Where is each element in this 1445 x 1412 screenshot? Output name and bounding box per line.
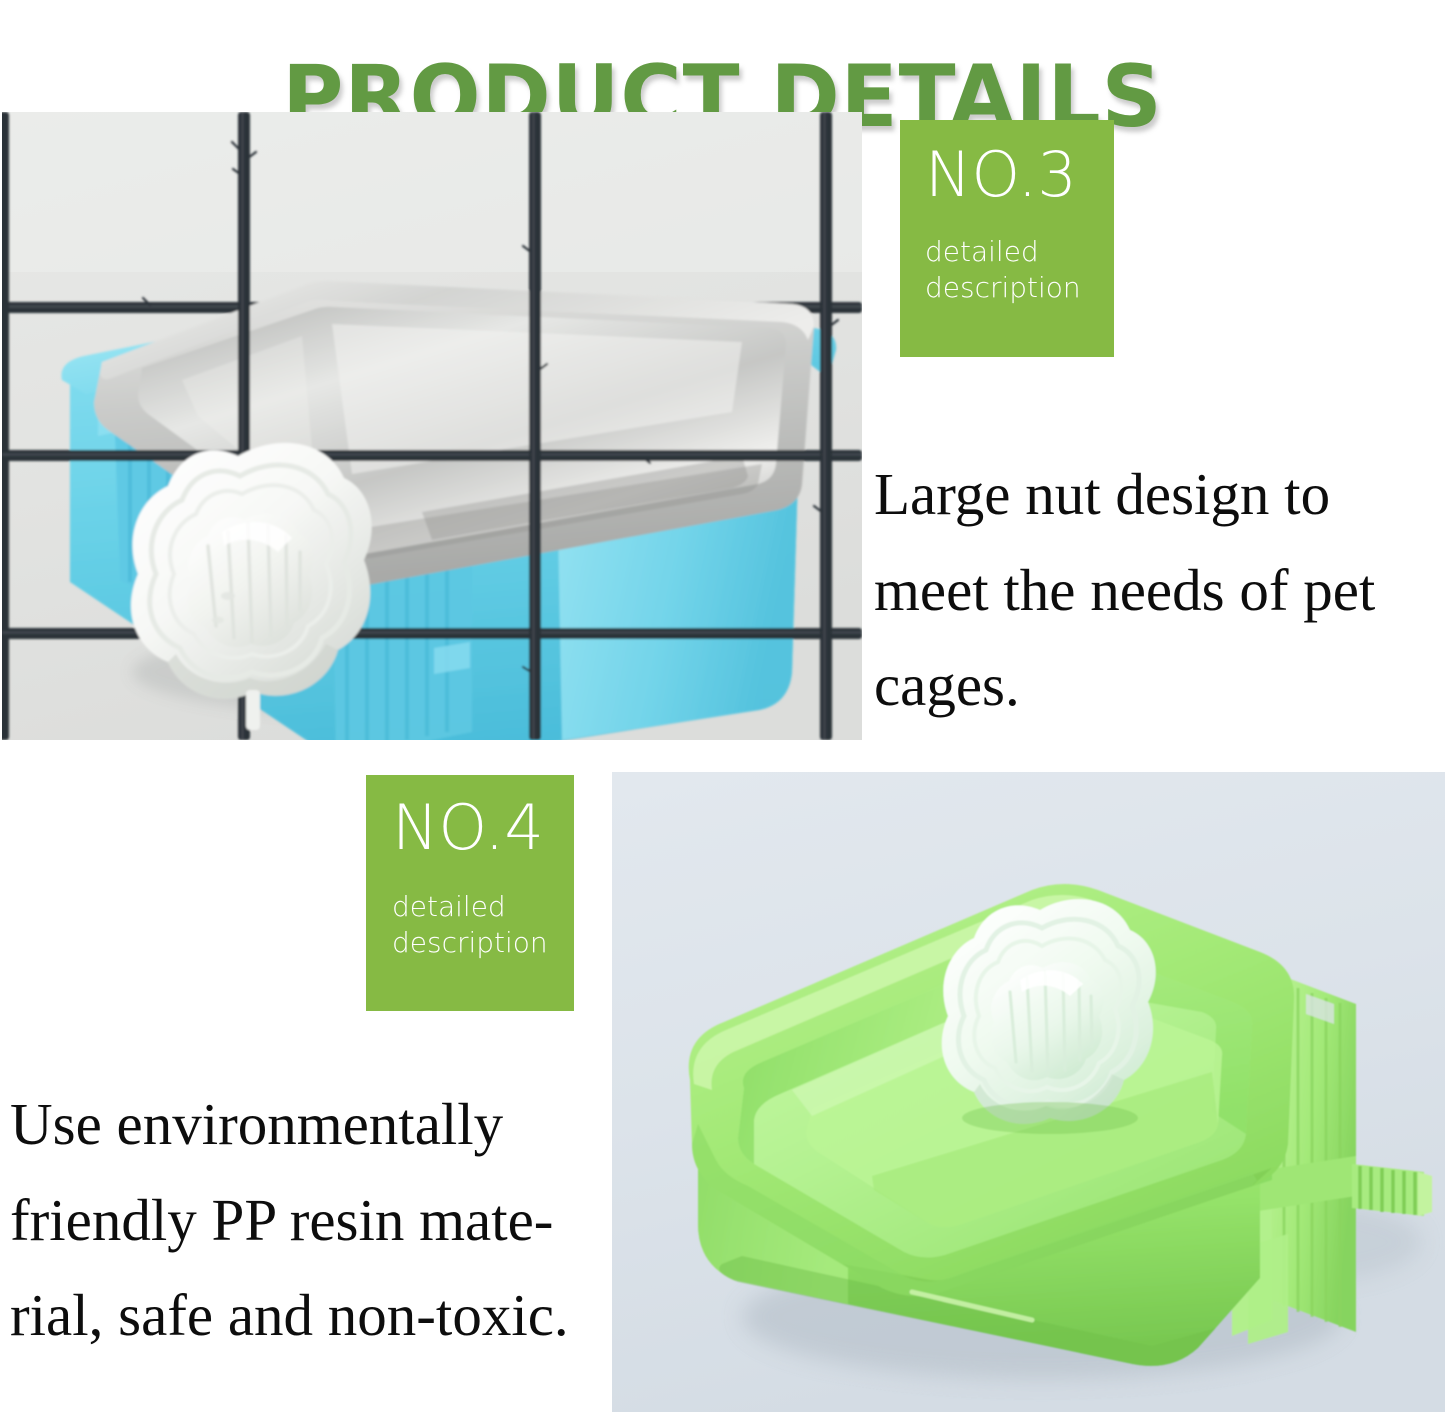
description-no3: Large nut design to meet the needs of pe…	[874, 447, 1434, 734]
description-no4: Use environmentally friendly PP resin ma…	[10, 1077, 622, 1364]
badge-no4-number: NO.4	[392, 797, 574, 859]
badge-no4: NO.4 detailed description	[366, 775, 574, 1011]
green-bowl-product-photo	[612, 772, 1445, 1412]
badge-no4-subtitle-line2: description	[392, 926, 548, 959]
badge-no3-subtitle-line1: detailed	[925, 235, 1039, 268]
badge-no3-number: NO.3	[925, 144, 1114, 206]
badge-no4-subtitle-line1: detailed	[392, 890, 506, 923]
blue-bowl-on-cage-photo	[2, 112, 862, 740]
badge-no3-subtitle-line2: description	[925, 271, 1081, 304]
badge-no3: NO.3 detailed description	[900, 120, 1114, 357]
